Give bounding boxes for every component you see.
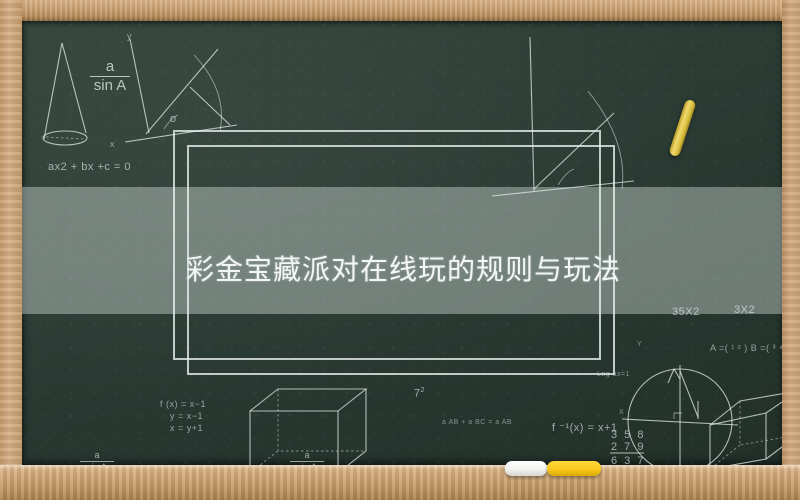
angle-label-o-topleft: o bbox=[170, 113, 177, 125]
addition-row-2: 2 7 9 bbox=[611, 441, 645, 453]
addition-sum: 6 3 7 bbox=[611, 455, 645, 465]
fraction-a-over-sinA-topleft: a sin A bbox=[90, 59, 130, 94]
vector-identity-note: a AB + a BC = a AB bbox=[442, 419, 512, 426]
multiplication-note-35x2: 35X2 bbox=[672, 306, 700, 318]
addition-row-1: 3 5 8 bbox=[611, 429, 645, 441]
chalkboard-surface: 彩金宝藏派对在线玩的规则与玩法 a sin A y x o ax2 + bx +… bbox=[22, 21, 784, 465]
function-line-1: f (x) = x−1 bbox=[160, 399, 206, 409]
yellow-chalk-piece[interactable] bbox=[547, 461, 601, 476]
power-seven-squared: 72 bbox=[414, 387, 425, 400]
log-note: Log ax=1 bbox=[597, 371, 630, 378]
axis-label-y-topleft: y bbox=[127, 31, 132, 41]
white-chalk-piece[interactable] bbox=[505, 461, 547, 476]
angle-arc-sketch bbox=[125, 39, 237, 142]
frame-edge-right bbox=[782, 0, 800, 500]
chalkboard-banner: 彩金宝藏派对在线玩的规则与玩法 a sin A y x o ax2 + bx +… bbox=[0, 0, 800, 500]
function-line-3: x = y+1 bbox=[170, 423, 203, 433]
page-title: 彩金宝藏派对在线玩的规则与玩法 bbox=[186, 253, 706, 287]
fraction-a-over-sinA-bottommid: a sin A bbox=[290, 451, 324, 465]
axis-label-x-bottomright: X bbox=[619, 409, 624, 416]
cone-sketch bbox=[43, 43, 87, 145]
wireframe-cube-right bbox=[710, 391, 784, 465]
frame-ledge-highlight bbox=[0, 465, 800, 469]
frame-edge-top bbox=[0, 0, 800, 21]
function-line-2: y = x−1 bbox=[170, 411, 203, 421]
matrix-note: A =( ¹ ² ) B =( ³ ⁴ ) I =( ¹ ⁰ ) bbox=[710, 343, 784, 354]
quadratic-equation-note: ax2 + bx +c = 0 bbox=[48, 161, 131, 173]
fraction-a-over-sinA-bottomleft: a sin A bbox=[80, 451, 114, 465]
axis-label-x-topleft: x bbox=[110, 139, 115, 149]
inverse-function-note: f ⁻¹(x) = x+1 bbox=[552, 421, 618, 434]
multiplication-note-3x2: 3X2 bbox=[734, 304, 755, 316]
axis-label-y-right: Y bbox=[637, 341, 642, 348]
frame-edge-left bbox=[0, 0, 22, 500]
frame-edge-bottom bbox=[0, 465, 800, 500]
